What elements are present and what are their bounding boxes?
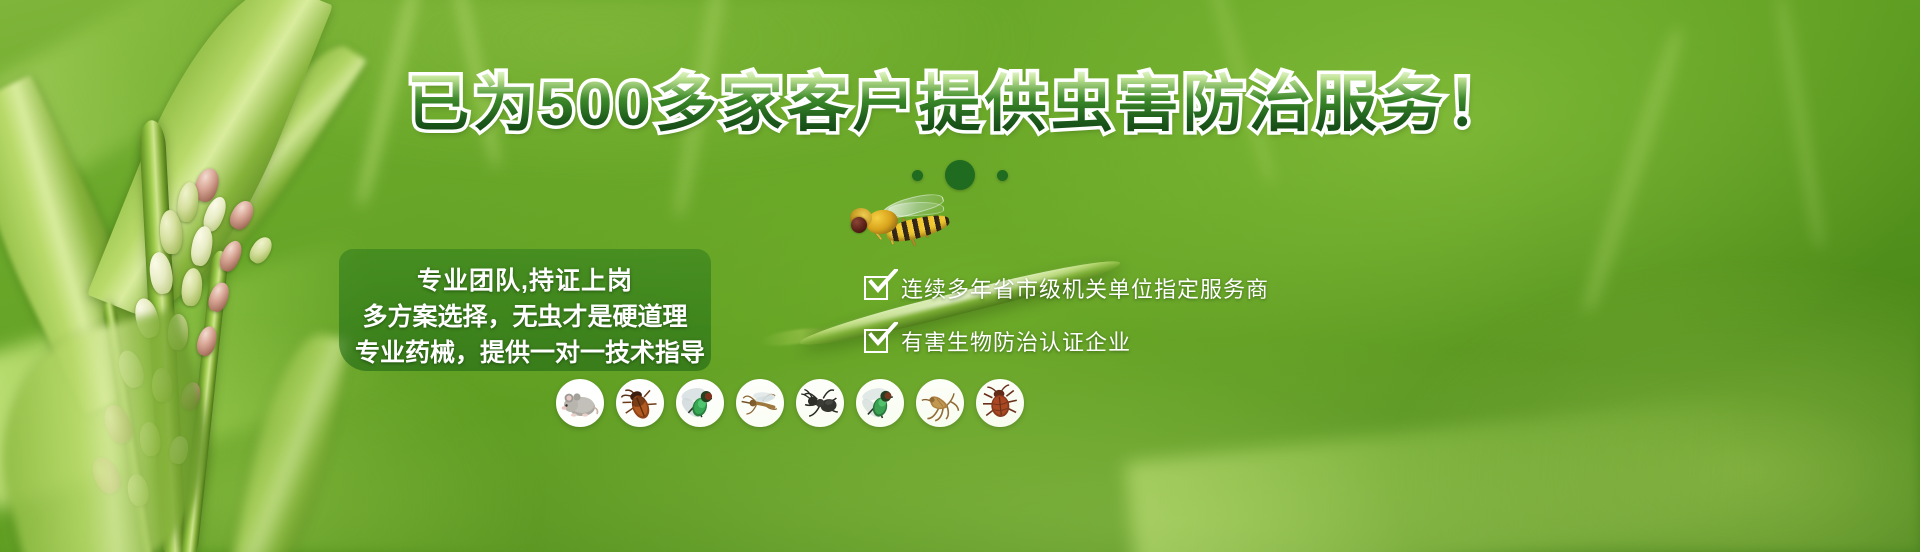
cockroach-icon[interactable] — [616, 379, 664, 427]
pest-type-icon-row — [556, 379, 1024, 427]
page-title: 已为500多家客户提供虫害防治服务！ 已为500多家客户提供虫害防治服务！ — [0, 74, 1920, 136]
dot-large-center-icon — [945, 160, 975, 190]
hoverfly-head — [850, 208, 872, 228]
checkbox-check-icon — [864, 276, 888, 300]
bedbug-icon[interactable] — [976, 379, 1024, 427]
plant-leaf — [230, 325, 350, 552]
dot-small-left-icon — [912, 170, 923, 181]
feature-line-1: 专业团队,持证上岗 — [355, 261, 695, 297]
feature-line-2: 多方案选择，无虫才是硬道理 — [355, 297, 695, 333]
feature-line-3: 专业药械，提供一对一技术指导 — [355, 333, 695, 369]
list-item: 连续多年省市级机关单位指定服务商 — [864, 272, 1269, 304]
hoverfly-eye — [851, 217, 867, 233]
mouse-icon[interactable] — [556, 379, 604, 427]
decorative-dots — [0, 160, 1920, 190]
mosquito-icon[interactable] — [736, 379, 784, 427]
list-item: 有害生物防治认证企业 — [864, 325, 1269, 357]
feature-highlight-box: 专业团队,持证上岗 多方案选择，无虫才是硬道理 专业药械，提供一对一技术指导 — [339, 249, 711, 371]
ant-icon[interactable] — [796, 379, 844, 427]
list-item-label: 连续多年省市级机关单位指定服务商 — [901, 272, 1269, 304]
bottle-fly-icon[interactable] — [676, 379, 724, 427]
flea-icon[interactable] — [916, 379, 964, 427]
dot-small-right-icon — [997, 170, 1008, 181]
checkbox-check-icon — [864, 329, 888, 353]
pest-control-promo-banner: 已为500多家客户提供虫害防治服务！ 已为500多家客户提供虫害防治服务！ 专业… — [0, 0, 1920, 552]
plant-bud — [246, 233, 276, 266]
hoverfly-illustration — [848, 198, 960, 256]
housefly-icon[interactable] — [856, 379, 904, 427]
selling-points-list: 连续多年省市级机关单位指定服务商 有害生物防治认证企业 — [864, 272, 1269, 357]
page-title-text: 已为500多家客户提供虫害防治服务！ — [407, 70, 1512, 139]
list-item-label: 有害生物防治认证企业 — [901, 325, 1131, 357]
